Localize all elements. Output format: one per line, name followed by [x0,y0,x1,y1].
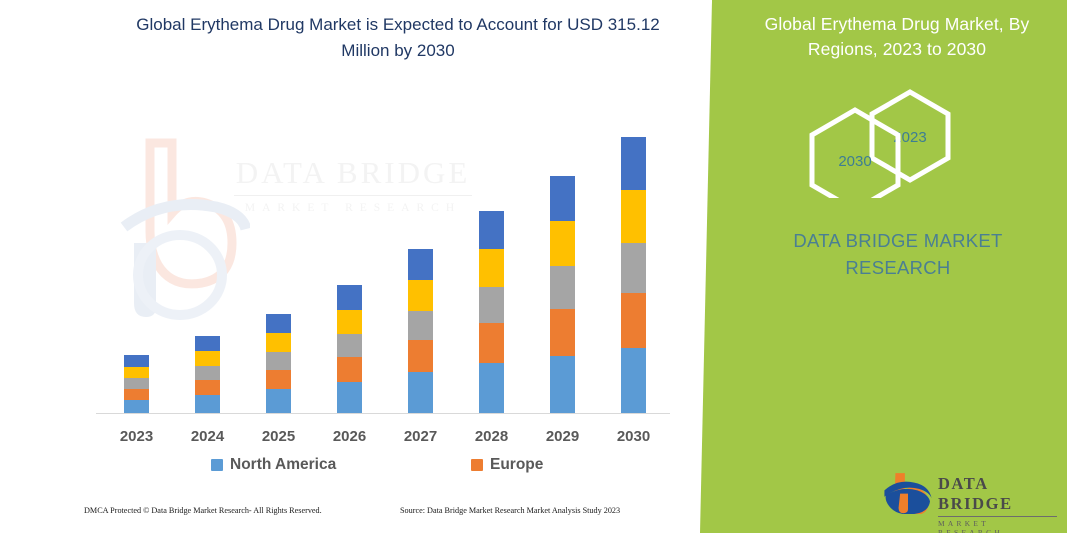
logo-name: DATA BRIDGE [938,474,1057,514]
legend-item-north-america[interactable]: North America [211,456,336,474]
bar-2024 [195,336,220,413]
bar-segment [550,266,575,309]
bar-segment [621,137,646,190]
infographic-canvas: Global Erythema Drug Market is Expected … [0,0,1067,533]
legend-label: North America [230,456,336,474]
bar-segment [337,285,362,310]
panel-brand-line1: DATA BRIDGE MARKET [793,230,1002,251]
bar-segment [550,176,575,221]
x-axis-labels: 20232024202520262027202820292030 [96,428,671,450]
x-axis-label-2026: 2026 [314,428,385,445]
bar-2030 [621,137,646,413]
data-bridge-logo-icon [882,470,934,514]
bar-segment [266,333,291,352]
bar-segment [266,352,291,370]
bar-segment [479,323,504,363]
bar-2025 [266,314,291,413]
bar-segment [550,221,575,266]
bar-segment [337,382,362,413]
bar-segment [124,355,149,367]
bar-2027 [408,249,433,413]
bar-segment [621,293,646,348]
panel-brand: DATA BRIDGE MARKET RESEARCH [738,228,1058,282]
bar-segment [479,211,504,249]
bar-segment [621,190,646,243]
bar-segment [266,314,291,333]
bar-segment [337,334,362,357]
hexagon-2030-label: 2030 [838,153,871,170]
bar-2028 [479,211,504,413]
bar-segment [550,356,575,413]
bar-segment [266,389,291,413]
bar-segment [550,309,575,356]
bar-2023 [124,355,149,413]
x-axis-label-2025: 2025 [243,428,314,445]
bar-segment [195,395,220,413]
bar-segment [124,378,149,389]
bar-segment [408,249,433,280]
footer-source: Source: Data Bridge Market Research Mark… [400,506,620,515]
bar-series-container [96,120,671,413]
panel-title: Global Erythema Drug Market, By Regions,… [742,12,1052,62]
bar-segment [337,357,362,382]
hexagon-badges: 2023 2030 [800,88,1000,198]
legend-swatch-icon [471,459,483,471]
x-axis-label-2029: 2029 [527,428,598,445]
bar-segment [408,340,433,372]
bar-segment [408,280,433,311]
x-axis-label-2023: 2023 [101,428,172,445]
logo-tagline: MARKET RESEARCH [938,516,1057,533]
bar-segment [195,351,220,366]
bar-segment [124,367,149,378]
bar-segment [195,366,220,380]
page-title: Global Erythema Drug Market is Expected … [120,12,676,63]
bar-segment [408,311,433,340]
x-axis-label-2027: 2027 [385,428,456,445]
bar-segment [479,249,504,287]
logo: DATA BRIDGE MARKET RESEARCH [882,468,1057,516]
bar-segment [621,348,646,413]
x-axis-label-2028: 2028 [456,428,527,445]
bar-segment [266,370,291,389]
legend-label: Europe [490,456,543,474]
bar-segment [124,400,149,413]
panel-brand-line2: RESEARCH [845,257,950,278]
bar-segment [195,380,220,395]
bar-segment [124,389,149,400]
green-side-panel: Global Erythema Drug Market, By Regions,… [670,0,1067,533]
legend-swatch-icon [211,459,223,471]
chart-legend: North AmericaEurope [96,456,671,480]
legend-item-europe[interactable]: Europe [471,456,543,474]
footer-copyright: DMCA Protected © Data Bridge Market Rese… [84,506,322,515]
x-axis-label-2030: 2030 [598,428,669,445]
x-axis-label-2024: 2024 [172,428,243,445]
bar-segment [337,310,362,334]
x-axis-line [96,413,671,414]
bar-segment [479,287,504,323]
bar-segment [195,336,220,351]
bar-2026 [337,285,362,413]
bar-segment [479,363,504,413]
bar-segment [621,243,646,293]
footer: DMCA Protected © Data Bridge Market Rese… [0,506,680,530]
bar-2029 [550,176,575,413]
bar-segment [408,372,433,413]
